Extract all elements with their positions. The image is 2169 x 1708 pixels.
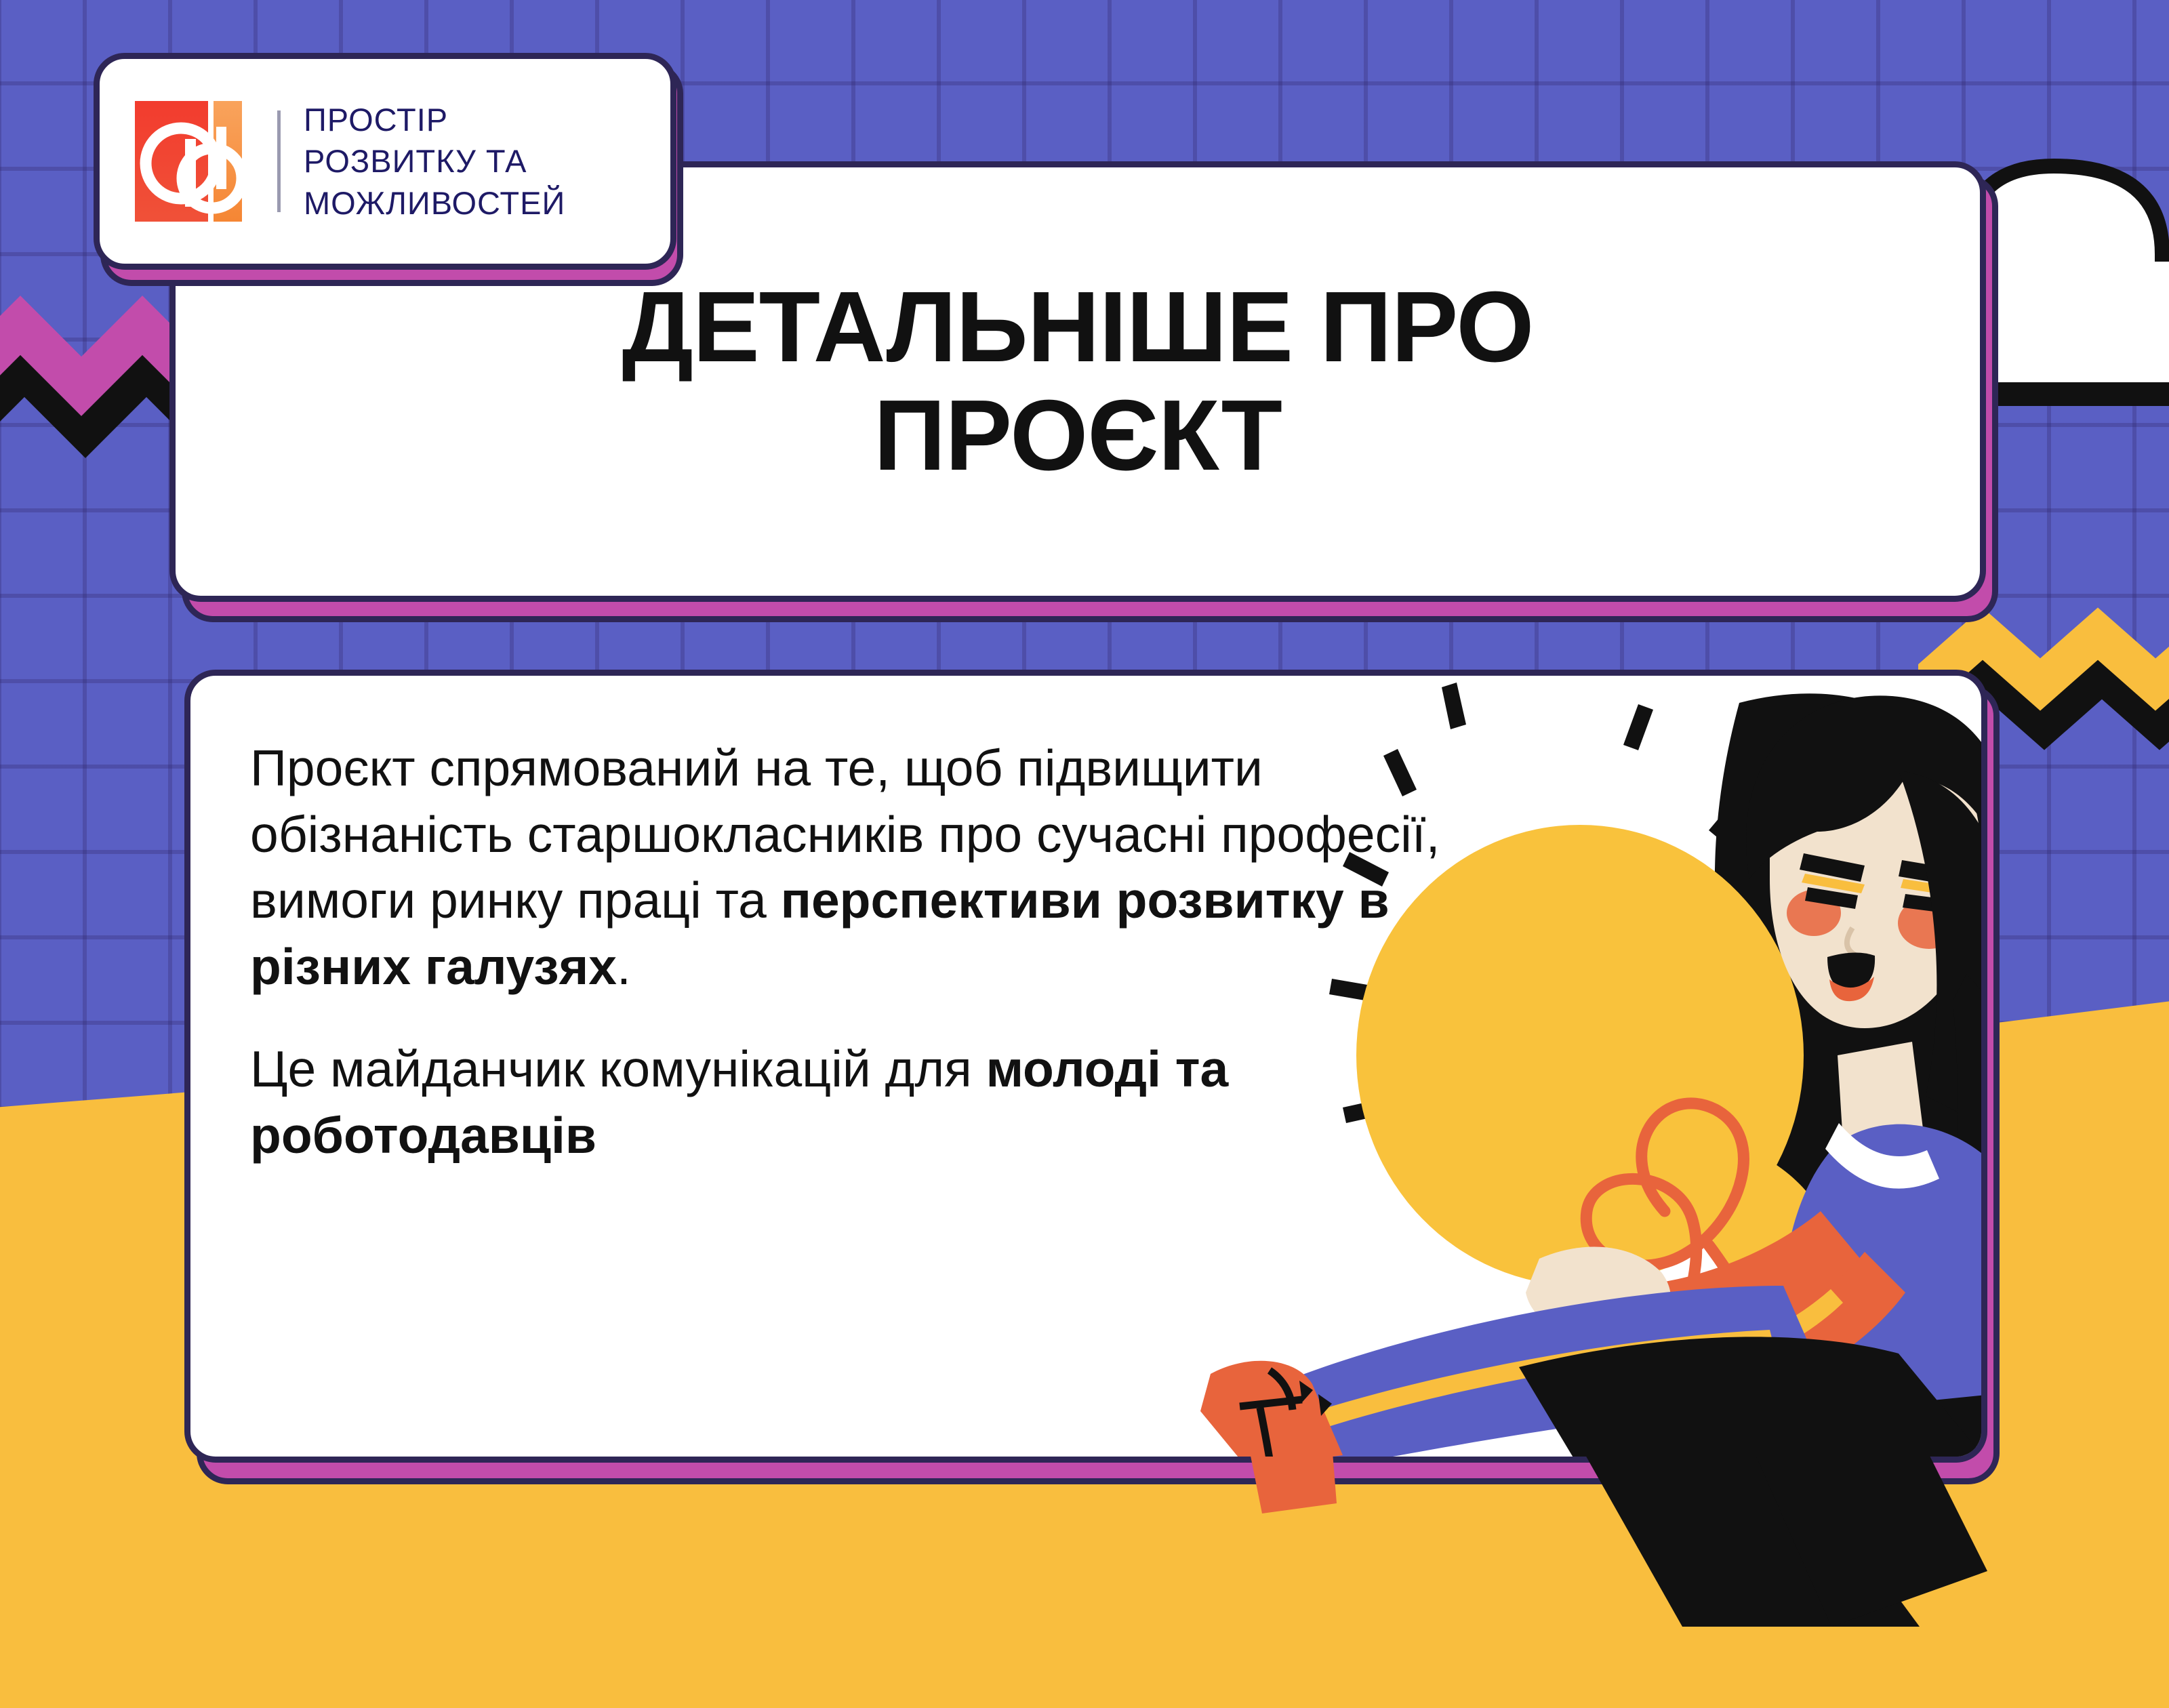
body-card: Проєкт спрямований на те, щоб підвищити … <box>184 670 1987 1463</box>
legs <box>1200 1286 1987 1463</box>
body-paragraph-1-tail: . <box>617 938 631 995</box>
page-title: ДЕТАЛЬНІШЕ ПРО ПРОЄКТ <box>568 273 1588 490</box>
hair-back <box>1715 693 1987 1463</box>
hand <box>1526 1247 1705 1385</box>
body-text-block: Проєкт спрямований на те, щоб підвищити … <box>190 676 1491 1168</box>
torso <box>1587 1123 1987 1417</box>
logo-text: ПРОСТІР РОЗВИТКУ ТА МОЖЛИВОСТЕЙ <box>304 99 565 223</box>
paragraph-spacer <box>250 1000 1491 1036</box>
hair-strand-right <box>1926 974 1987 1463</box>
logo-mark-icon <box>132 97 254 226</box>
logo-divider <box>277 110 281 212</box>
logo-card[interactable]: ПРОСТІР РОЗВИТКУ ТА МОЖЛИВОСТЕЙ <box>94 53 676 270</box>
head <box>1746 695 1987 1164</box>
body-paragraph-2-lead: Це майданчик комунікацій для <box>250 1040 986 1097</box>
